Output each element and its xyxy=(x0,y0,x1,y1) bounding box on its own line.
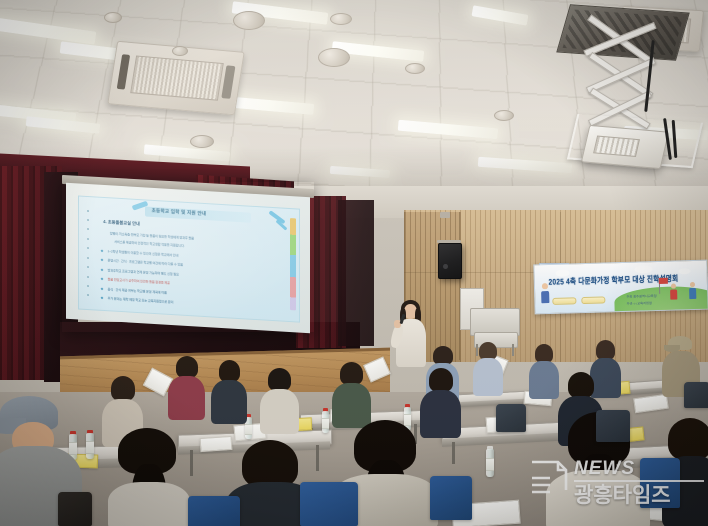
projector-vents xyxy=(593,136,639,157)
slide-hole xyxy=(87,228,89,230)
slide-hole xyxy=(87,266,89,268)
audience-member-ponytail xyxy=(104,428,192,526)
hair xyxy=(219,360,240,382)
hair xyxy=(596,340,615,360)
desk-leg xyxy=(452,442,455,464)
hair xyxy=(176,356,198,378)
slide-heading: 4. 초등돌봄교실 안내 xyxy=(103,219,140,227)
ceiling-detector-dot xyxy=(405,63,425,74)
ac-grille xyxy=(130,56,223,101)
slide-bullet xyxy=(101,297,104,300)
slide-bullet-text: 추가 문의는 재학 예정 학교 또는 교육지원청으로 문의 xyxy=(108,296,174,305)
hair xyxy=(242,440,298,488)
hair xyxy=(668,418,708,460)
chair xyxy=(188,496,240,526)
ceiling-speaker-dot xyxy=(318,48,350,67)
torso xyxy=(260,389,299,434)
event-banner: 2025 4축 다문화가정 학부모 대상 진학설명회 주최 광주광역시교육청 주… xyxy=(533,260,708,315)
torso xyxy=(108,482,190,526)
slide-hole xyxy=(87,275,89,277)
banner-mascot-child-body xyxy=(541,291,549,303)
hair xyxy=(340,362,363,385)
hair xyxy=(568,372,594,398)
bottle-label xyxy=(486,458,494,471)
presentation-slide: 초등학교 입학 및 지원 안내 4. 초등돌봄교실 안내 맞벌이·저소득층·한부… xyxy=(78,195,300,322)
chair xyxy=(684,382,708,408)
projector-ceiling-plate xyxy=(556,4,690,61)
banner-mascot-child xyxy=(542,283,548,289)
slide-hole-column xyxy=(85,206,92,300)
banner-cloud xyxy=(679,268,691,274)
projection-screen: 초등학교 입학 및 지원 안내 4. 초등돌봄교실 안내 맞벌이·저소득층·한부… xyxy=(66,183,310,333)
hair xyxy=(268,368,291,391)
banner-mascot-body-right xyxy=(670,289,677,299)
slide-bullet-text: 방과후학교 프로그램과 연계 운영 가능하며 별도 신청 필요 xyxy=(108,267,179,276)
slide-hole xyxy=(87,238,89,240)
slide-bullet-text: 운영시간 · 간식 · 프로그램은 학교별 여건에 따라 다를 수 있음 xyxy=(108,258,183,267)
slide-bullet xyxy=(101,287,104,290)
chair xyxy=(496,404,526,432)
banner-mascot-head-right2 xyxy=(690,282,695,287)
audience-member xyxy=(258,368,300,430)
hair xyxy=(429,368,453,392)
stage-curtain-right-dark xyxy=(338,200,374,346)
chair xyxy=(430,476,472,520)
torso xyxy=(473,358,503,396)
slide-intro-line-2: 서비스를 제공하여 안정적인 학교생활 적응을 지원합니다. xyxy=(114,239,184,248)
chair xyxy=(58,492,92,526)
slide-bullet xyxy=(101,249,104,252)
cart-leg xyxy=(512,344,514,356)
bottle-label xyxy=(86,441,94,454)
slide-bullet-text: 돌봄 전담교사가 상주하여 안전한 돌봄 환경을 제공 xyxy=(108,277,170,286)
slide-bullet xyxy=(101,259,104,262)
ac-vane xyxy=(117,55,130,90)
wall-speaker xyxy=(438,243,462,279)
ceiling-detector-dot xyxy=(494,110,514,121)
slide-hole xyxy=(87,247,89,249)
banner-mascot-head-right xyxy=(671,284,676,289)
slide-hole xyxy=(87,210,89,212)
audience-member xyxy=(166,356,206,418)
torso xyxy=(529,361,559,399)
photo-scene: 2025 4축 다문화가정 학부모 대상 진학설명회 주최 광주광역시교육청 주… xyxy=(0,0,708,526)
projector-body xyxy=(581,125,669,169)
slide-bullet-text: 중식 · 간식 제공 여부는 학교별 운영 계획에 따름 xyxy=(108,286,167,295)
ceiling-speaker-dot xyxy=(233,11,265,30)
torso xyxy=(546,470,650,526)
slide-hole xyxy=(87,294,89,296)
banner-flag xyxy=(659,278,668,284)
audience-member xyxy=(210,360,248,420)
hair xyxy=(111,376,135,401)
ceiling-detector-dot xyxy=(104,12,122,23)
chair xyxy=(640,458,680,508)
ac-vane xyxy=(221,65,235,99)
speaker-mount-rail xyxy=(437,240,461,243)
slide-bullet xyxy=(101,278,104,281)
slide-bullet xyxy=(101,268,104,271)
speaker-bracket xyxy=(440,212,450,218)
banner-subtitle-left: 주최 광주광역시교육청 xyxy=(626,293,656,299)
ceiling-detector-dot xyxy=(330,13,352,25)
torso xyxy=(168,376,205,420)
banner-mascot-body-right2 xyxy=(689,288,696,299)
bottle-label xyxy=(245,424,252,435)
torso xyxy=(211,380,247,424)
audience-member xyxy=(330,362,372,424)
bottle-label xyxy=(322,418,329,429)
banner-chip-host xyxy=(552,297,576,305)
banner-subtitle-right: 주관 ○○교육지원청 xyxy=(627,301,652,307)
slide-side-color-bar xyxy=(290,218,296,310)
banner-chip-organizer xyxy=(582,296,606,304)
chair xyxy=(596,410,630,442)
wall-seam xyxy=(459,212,460,360)
slide-hole xyxy=(87,219,89,221)
projection-screen-assembly: 초등학교 입학 및 지원 안내 4. 초등돌봄교실 안내 맞벌이·저소득층·한부… xyxy=(62,182,314,332)
chair xyxy=(300,482,358,526)
slide-hole xyxy=(87,285,89,287)
slide-bullet-text: 1~2학년 학생들이 이용할 수 있으며 신청은 학교에서 안내 xyxy=(108,248,179,257)
ceiling-detector-dot xyxy=(172,46,188,56)
slide-hole xyxy=(87,257,89,259)
audience-member xyxy=(472,342,504,394)
